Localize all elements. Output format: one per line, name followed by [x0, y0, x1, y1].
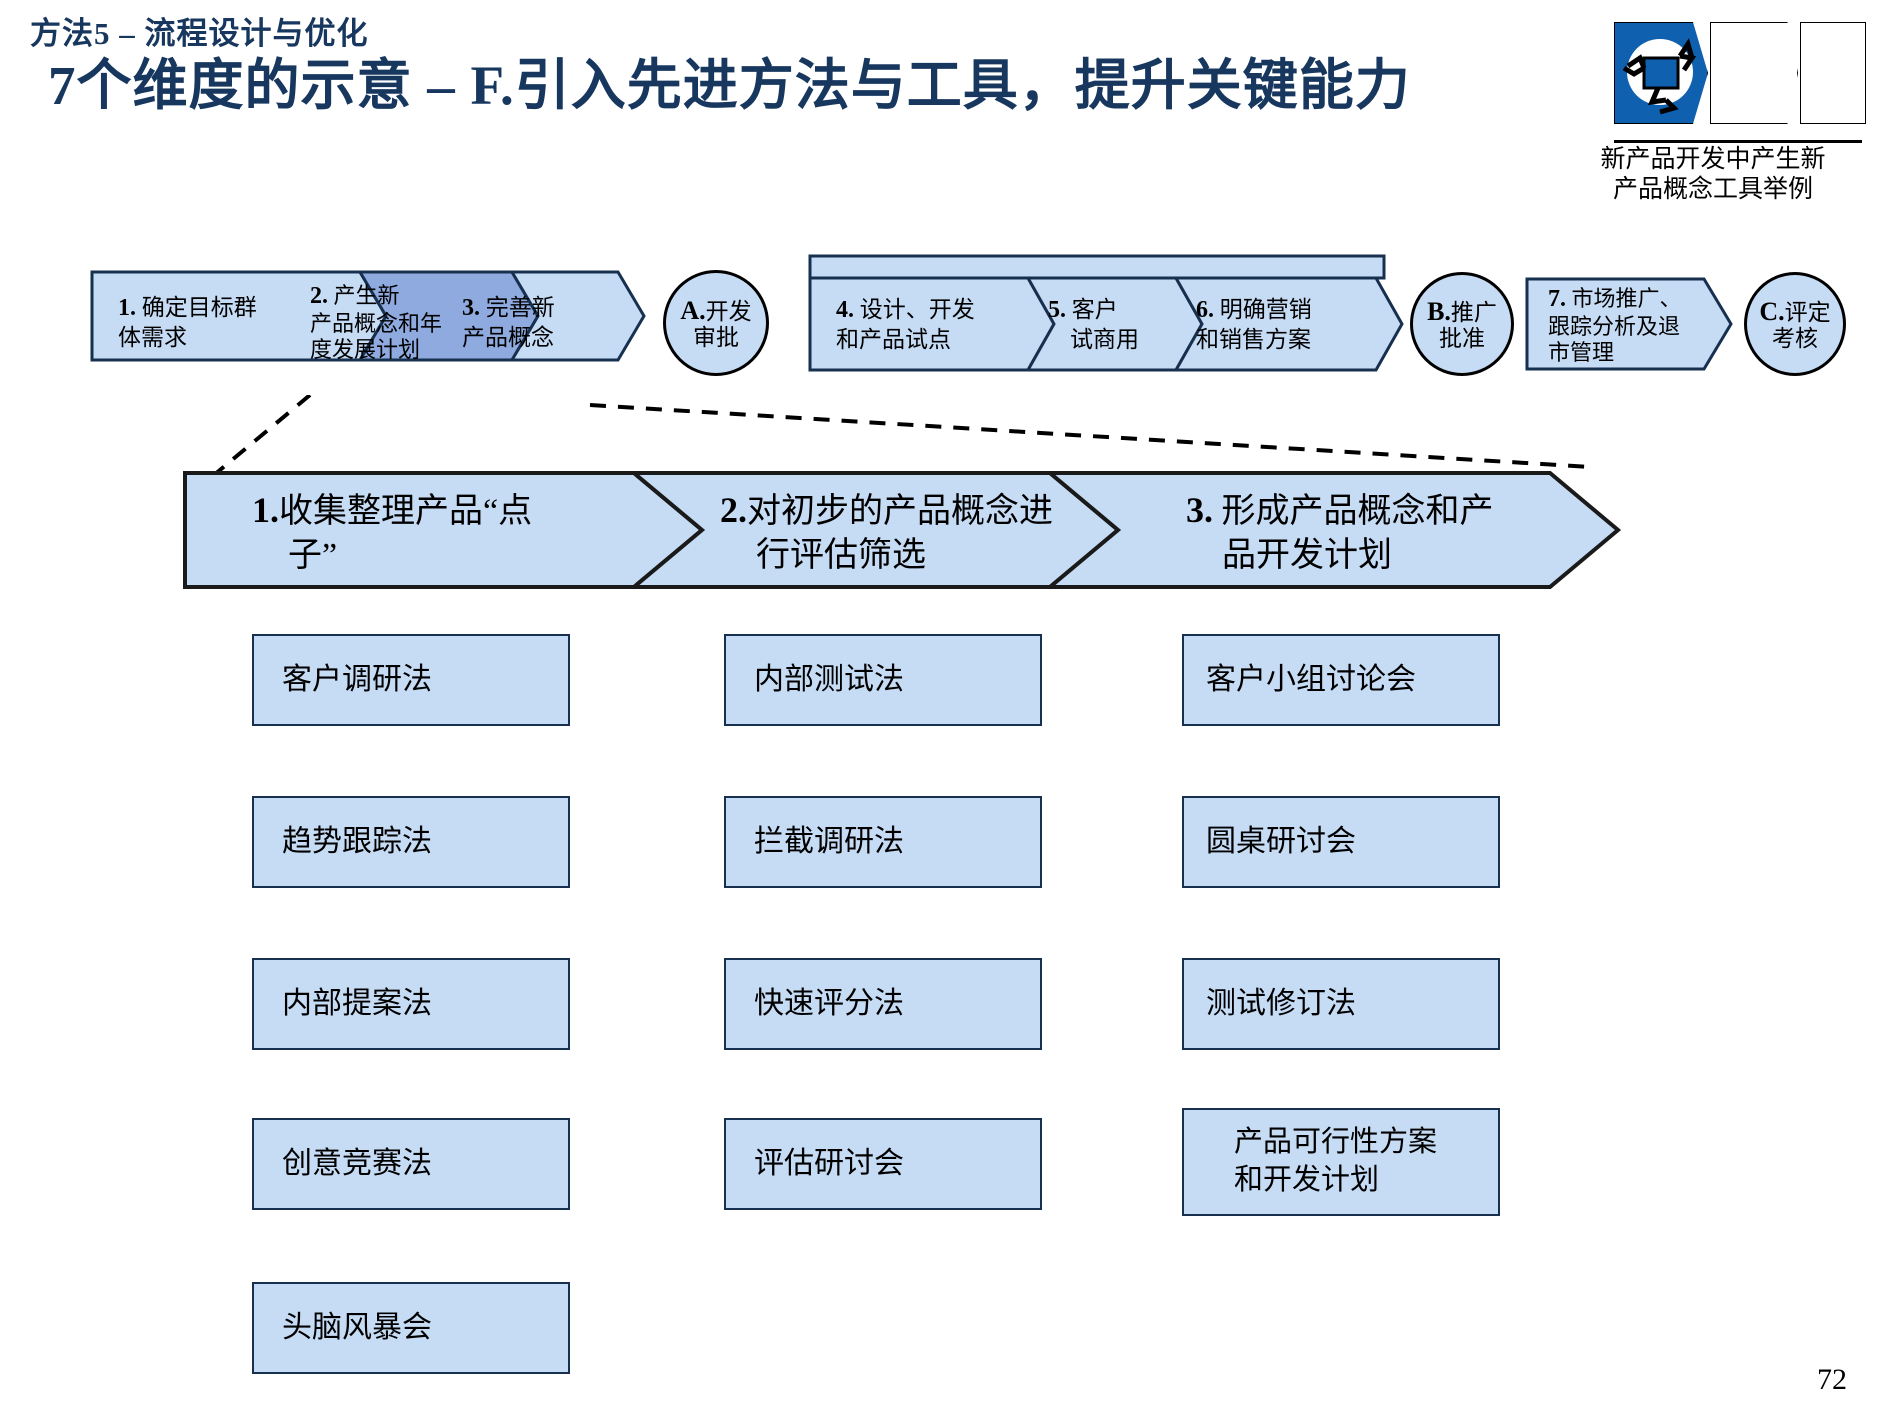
gate-c-line-2: 考核 [1772, 326, 1818, 351]
sub-process-step-1-line-1: 收集整理产品“点 [279, 493, 532, 530]
process-step-7-line-1: 市场推广、 [1572, 286, 1682, 311]
gate-b[interactable]: B.推广 批准 [1410, 272, 1514, 376]
method-box[interactable]: 客户小组讨论会 [1182, 634, 1500, 726]
process-step-1-line-1: 确定目标群 [142, 295, 257, 320]
logo-caption: 新产品开发中产生新 产品概念工具举例 [1552, 145, 1874, 204]
process-step-6[interactable]: 6. 明确营销 和销售方案 [1196, 292, 1406, 358]
process-step-4-line-1: 设计、开发 [860, 297, 975, 322]
process-step-6-num: 6. [1196, 297, 1214, 323]
process-step-5-line-1: 客户 [1072, 297, 1118, 322]
process-step-4-line-2: 和产品试点 [836, 327, 951, 352]
method-label: 测试修订法 [1184, 985, 1366, 1023]
method-box[interactable]: 内部测试法 [724, 634, 1042, 726]
gate-b-line-2: 批准 [1439, 326, 1485, 351]
method-label: 内部提案法 [254, 985, 442, 1023]
process-step-4[interactable]: 4. 设计、开发 和产品试点 [836, 292, 1036, 358]
process-step-1[interactable]: 1. 确定目标群 体需求 [118, 290, 298, 356]
logo-caption-line-2: 产品概念工具举例 [1552, 175, 1874, 205]
process-step-3-num: 3. [462, 295, 480, 321]
method-label: 内部测试法 [726, 661, 914, 699]
process-step-3-line-1: 完善新 [486, 295, 555, 320]
method-box[interactable]: 趋势跟踪法 [252, 796, 570, 888]
slide-kicker: 方法5 – 流程设计与优化 [30, 8, 369, 53]
process-step-5-num: 5. [1048, 297, 1066, 323]
sub-process-step-1[interactable]: 1.收集整理产品“点 子” [252, 488, 672, 576]
process-step-2-line-3: 度发展计划 [310, 337, 420, 362]
sub-process-step-3[interactable]: 3. 形成产品概念和产 品开发计划 [1186, 488, 1606, 576]
sub-process-step-2[interactable]: 2.对初步的产品概念进 行评估筛选 [720, 488, 1140, 576]
process-step-6-line-1: 明确营销 [1220, 297, 1312, 322]
gate-a-line-2: 审批 [693, 325, 739, 350]
method-box[interactable]: 快速评分法 [724, 958, 1042, 1050]
method-box[interactable]: 内部提案法 [252, 958, 570, 1050]
method-box[interactable]: 头脑风暴会 [252, 1282, 570, 1374]
method-label: 创意竞赛法 [254, 1145, 442, 1183]
logo-caption-line-1: 新产品开发中产生新 [1552, 145, 1874, 175]
sub-process-step-2-num: 2. [720, 490, 747, 530]
method-label: 客户调研法 [254, 661, 442, 699]
process-step-1-line-2: 体需求 [118, 325, 187, 350]
process-step-4-num: 4. [836, 297, 854, 323]
method-box[interactable]: 创意竞赛法 [252, 1118, 570, 1210]
process-step-7-line-2: 跟踪分析及退 [1548, 314, 1680, 339]
method-label: 拦截调研法 [726, 823, 914, 861]
method-box[interactable]: 圆桌研讨会 [1182, 796, 1500, 888]
sub-process-step-3-line-1: 形成产品概念和产 [1222, 493, 1494, 530]
process-step-7-line-3: 市管理 [1548, 340, 1614, 365]
method-box[interactable]: 评估研讨会 [724, 1118, 1042, 1210]
gate-a-line-1: 开发 [706, 299, 752, 324]
sub-process-step-3-num: 3. [1186, 490, 1213, 530]
gate-a[interactable]: A.开发 审批 [663, 270, 769, 376]
process-step-5[interactable]: 5. 客户 试商用 [1048, 292, 1188, 358]
process-step-7-num: 7. [1548, 286, 1566, 312]
process-step-5-line-2: 试商用 [1048, 327, 1139, 352]
sub-process-step-3-line-2: 品开发计划 [1186, 537, 1392, 574]
process-step-2-num: 2. [310, 283, 328, 309]
process-step-2-line-1: 产生新 [334, 283, 400, 308]
process-step-7[interactable]: 7. 市场推广、 跟踪分析及退 市管理 [1548, 286, 1728, 366]
method-label: 趋势跟踪法 [254, 823, 442, 861]
sub-process-step-2-line-2: 行评估筛选 [720, 537, 926, 574]
dashed-connectors [200, 395, 1600, 485]
gate-b-line-1: 推广 [1451, 300, 1497, 325]
method-label-line-2: 和开发计划 [1206, 1164, 1389, 1196]
method-box[interactable]: 测试修订法 [1182, 958, 1500, 1050]
method-label: 快速评分法 [726, 985, 914, 1023]
method-label: 圆桌研讨会 [1184, 823, 1366, 861]
sub-process-step-1-line-2: 子” [252, 537, 337, 574]
sub-process-step-2-line-1: 对初步的产品概念进 [747, 493, 1053, 530]
logo-divider [1614, 140, 1862, 143]
logo [1614, 22, 1864, 142]
gate-b-num: B. [1427, 297, 1451, 326]
method-box[interactable]: 拦截调研法 [724, 796, 1042, 888]
page-title: 7个维度的示意 – F.引入先进方法与工具，提升关键能力 [48, 54, 1548, 118]
method-box[interactable]: 客户调研法 [252, 634, 570, 726]
gate-c-line-1: 评定 [1785, 300, 1831, 325]
sub-process-step-1-num: 1. [252, 490, 279, 530]
gate-c-num: C. [1759, 297, 1784, 326]
logo-boxes [1614, 22, 1864, 124]
cycle-arrows-icon [1614, 22, 1706, 122]
process-step-6-line-2: 和销售方案 [1196, 327, 1311, 352]
gate-a-num: A. [680, 296, 705, 325]
logo-box-white-2 [1800, 22, 1866, 124]
page-number: 72 [1817, 1363, 1847, 1397]
gate-c[interactable]: C.评定 考核 [1744, 272, 1846, 376]
method-label: 客户小组讨论会 [1184, 661, 1426, 699]
logo-box-white-1 [1710, 22, 1798, 124]
slide-root: 方法5 – 流程设计与优化 7个维度的示意 – F.引入先进方法与工具，提升关键… [0, 0, 1881, 1411]
process-step-3[interactable]: 3. 完善新 产品概念 [462, 290, 622, 356]
method-label: 评估研讨会 [726, 1145, 914, 1183]
process-step-1-num: 1. [118, 295, 136, 321]
method-box[interactable]: 产品可行性方案 和开发计划 [1182, 1108, 1500, 1216]
process-step-2-line-2: 产品概念和年 [310, 311, 442, 336]
method-label: 头脑风暴会 [254, 1309, 442, 1347]
method-label-line-1: 产品可行性方案 [1206, 1126, 1447, 1158]
process-step-3-line-2: 产品概念 [462, 325, 554, 350]
